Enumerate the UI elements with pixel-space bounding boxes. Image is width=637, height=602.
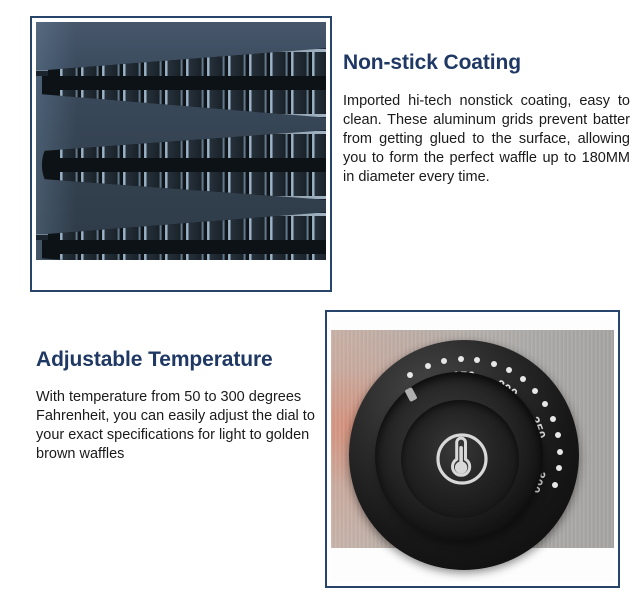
mold-spine [42, 213, 326, 216]
temperature-knob: 0100150200250300 [349, 340, 579, 570]
photo-inner: 0100150200250300 [331, 316, 614, 582]
mold-spine [42, 49, 326, 52]
nonstick-coating-image-frame [30, 16, 332, 292]
mold-teeth-upper [60, 52, 326, 76]
nonstick-coating-heading: Non-stick Coating [343, 51, 521, 75]
mold-teeth-upper [60, 134, 326, 158]
mold-spine [42, 114, 326, 117]
mold-spine [42, 278, 326, 281]
mold-spine [42, 196, 326, 199]
temperature-dial-photo: 0100150200250300 [331, 316, 614, 582]
mold-teeth-lower [60, 90, 326, 114]
photo-inner [36, 22, 326, 286]
knob-tick [552, 482, 558, 488]
mold-teeth-upper [60, 216, 326, 240]
photo-top-strip [331, 316, 614, 330]
mold-teeth-lower [60, 172, 326, 196]
knob-tick [555, 432, 561, 438]
knob-tick [458, 356, 464, 362]
knob-tick [491, 361, 497, 367]
waffle-mold-middle [42, 130, 326, 200]
waffle-mold-bottom [42, 212, 326, 282]
mold-teeth-lower [60, 254, 326, 278]
knob-tick [557, 449, 563, 455]
mold-stub [36, 234, 48, 240]
waffle-mold-top [42, 48, 326, 118]
adjustable-temperature-body-text: With temperature from 50 to 300 degrees … [36, 388, 326, 464]
knob-tick [425, 363, 431, 369]
waffle-plate-photo [36, 22, 326, 286]
knob-tick [550, 416, 556, 422]
thermometer-icon [435, 432, 489, 486]
nonstick-coating-body-text: Imported hi-tech nonstick coating, easy … [343, 92, 630, 187]
adjustable-temperature-heading: Adjustable Temperature [36, 348, 273, 372]
temperature-dial-image-frame: 0100150200250300 [325, 310, 620, 588]
mold-stub [36, 70, 48, 76]
